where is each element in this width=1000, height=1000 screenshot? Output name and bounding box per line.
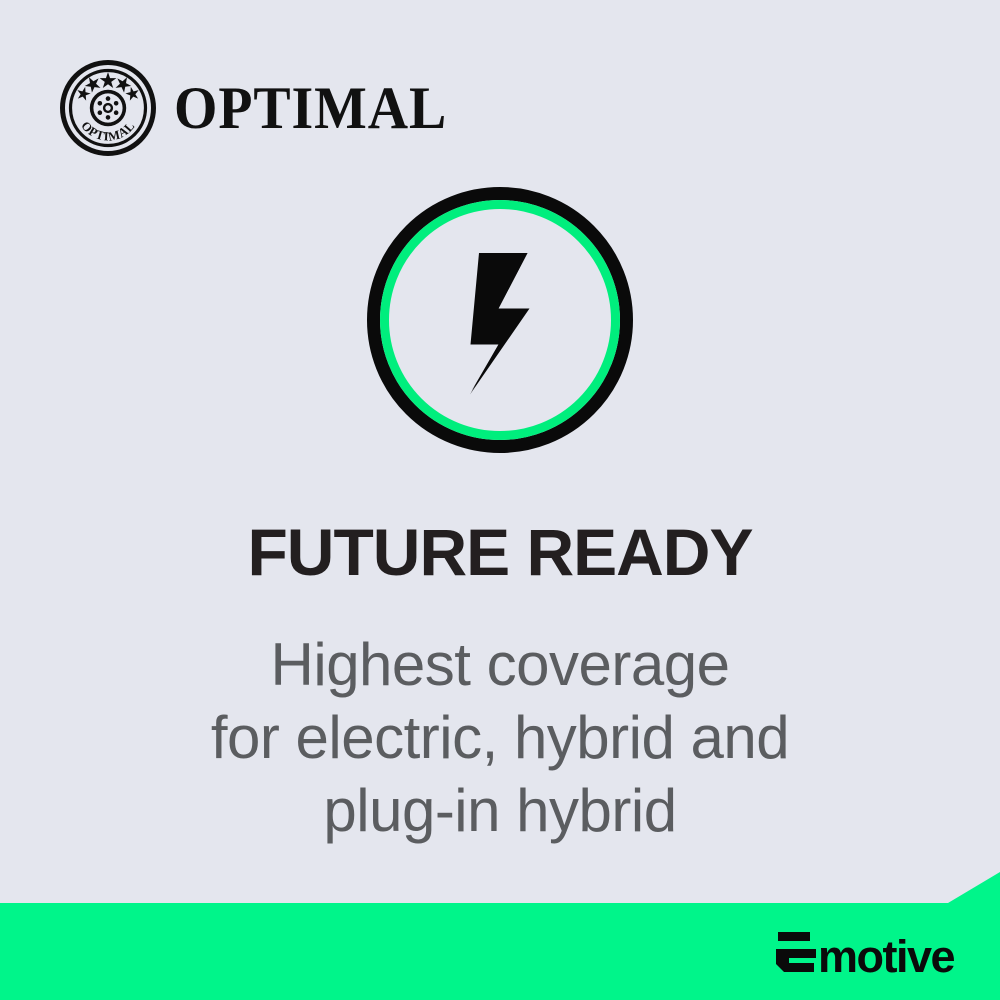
brand-lockup: OPTIMAL OPTIMAL [58, 58, 468, 158]
emotive-wordmark: motive [818, 932, 978, 982]
subheadline-line-3: plug-in hybrid [0, 774, 1000, 847]
subheadline-line-2: for electric, hybrid and [0, 701, 1000, 774]
emotive-block-e-icon [776, 932, 816, 982]
page-title: FUTURE READY [0, 519, 1000, 585]
lightning-bolt-in-circle-icon [367, 187, 633, 453]
optimal-bearing-badge-icon: OPTIMAL [58, 58, 158, 158]
subheadline-line-1: Highest coverage [0, 628, 1000, 701]
footer-banner: motive Emotive [0, 872, 1000, 1000]
emotive-logo: motive Emotive [776, 932, 978, 982]
brand-wordmark: OPTIMAL [174, 78, 447, 138]
subheadline: Highest coverage for electric, hybrid an… [0, 628, 1000, 847]
marketing-poster: OPTIMAL OPTIMAL [0, 0, 1000, 1000]
svg-text:motive: motive [818, 932, 955, 982]
